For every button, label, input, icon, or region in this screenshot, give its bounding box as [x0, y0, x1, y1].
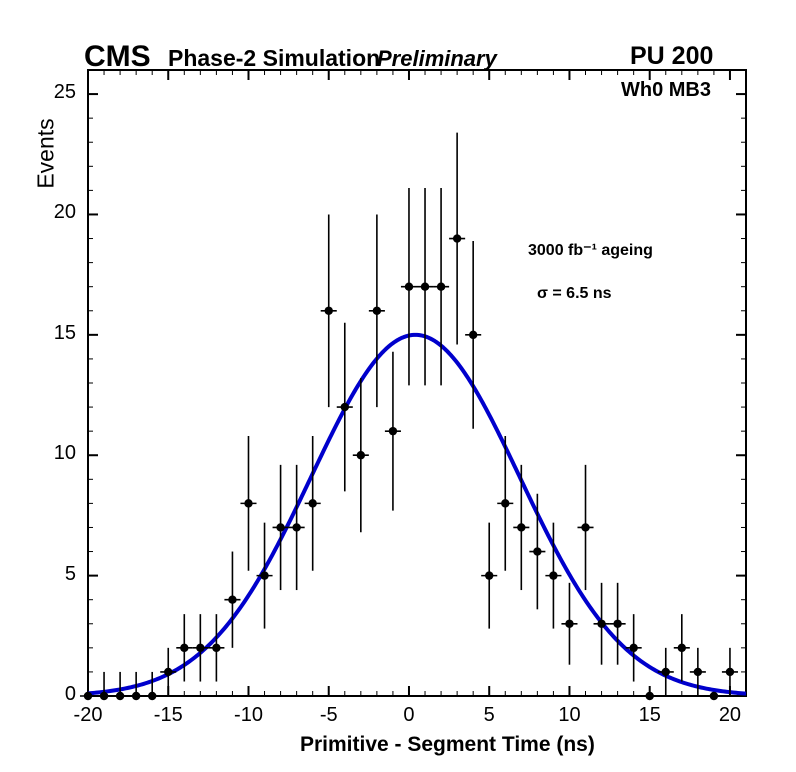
data-marker — [405, 282, 413, 290]
data-marker — [517, 523, 525, 531]
data-marker — [148, 692, 156, 700]
x-tick-label: 10 — [539, 704, 599, 727]
data-marker — [437, 282, 445, 290]
data-marker — [597, 620, 605, 628]
data-marker — [421, 282, 429, 290]
data-marker — [613, 620, 621, 628]
y-tick-label: 5 — [36, 563, 76, 586]
data-points — [80, 133, 738, 701]
data-marker — [453, 234, 461, 242]
x-tick-label: -10 — [218, 704, 278, 727]
data-marker — [726, 668, 734, 676]
data-marker — [276, 523, 284, 531]
data-marker — [646, 692, 654, 700]
data-marker — [196, 644, 204, 652]
data-marker — [308, 499, 316, 507]
data-marker — [501, 499, 509, 507]
data-marker — [357, 451, 365, 459]
data-marker — [341, 403, 349, 411]
data-marker — [694, 668, 702, 676]
data-marker — [678, 644, 686, 652]
data-marker — [212, 644, 220, 652]
x-tick-label: 20 — [700, 704, 760, 727]
data-marker — [84, 692, 92, 700]
data-marker — [164, 668, 172, 676]
data-marker — [565, 620, 573, 628]
x-tick-label: -5 — [299, 704, 359, 727]
y-tick-label: 10 — [36, 442, 76, 465]
data-marker — [132, 692, 140, 700]
data-marker — [244, 499, 252, 507]
data-marker — [533, 547, 541, 555]
data-marker — [469, 331, 477, 339]
data-marker — [581, 523, 589, 531]
plot-area — [0, 0, 796, 772]
data-marker — [710, 692, 718, 700]
data-marker — [485, 571, 493, 579]
x-tick-label: -20 — [58, 704, 118, 727]
x-tick-label: 15 — [620, 704, 680, 727]
data-marker — [260, 571, 268, 579]
data-marker — [100, 692, 108, 700]
data-marker — [180, 644, 188, 652]
x-tick-label: 5 — [459, 704, 519, 727]
data-marker — [373, 307, 381, 315]
chart-canvas: CMS Phase-2 Simulation Preliminary PU 20… — [0, 0, 796, 772]
gaussian-fit-curve — [88, 335, 746, 694]
x-tick-label: 0 — [379, 704, 439, 727]
y-tick-label: 0 — [36, 683, 76, 706]
plot-frame — [88, 70, 746, 696]
data-marker — [292, 523, 300, 531]
x-tick-label: -15 — [138, 704, 198, 727]
y-tick-label: 25 — [36, 81, 76, 104]
data-marker — [549, 571, 557, 579]
data-marker — [629, 644, 637, 652]
data-marker — [116, 692, 124, 700]
data-marker — [228, 595, 236, 603]
data-marker — [325, 307, 333, 315]
data-marker — [662, 668, 670, 676]
data-marker — [389, 427, 397, 435]
y-tick-label: 15 — [36, 322, 76, 345]
y-tick-label: 20 — [36, 201, 76, 224]
